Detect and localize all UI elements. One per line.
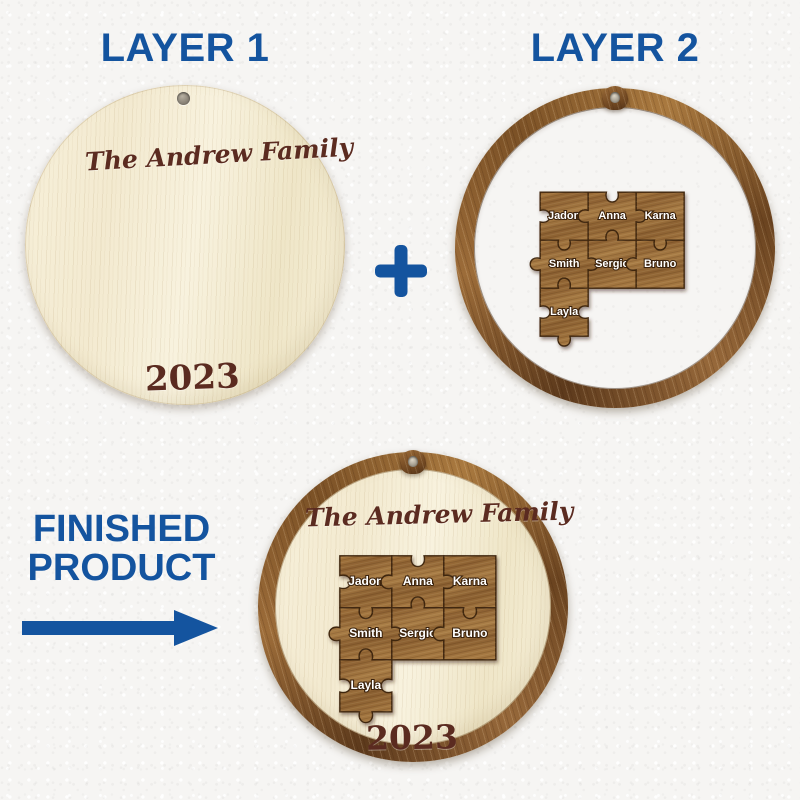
finished-label-line2: PRODUCT xyxy=(14,549,229,588)
puzzle-piece-label: Anna xyxy=(598,210,626,222)
plus-icon xyxy=(372,242,430,305)
hanging-hole-icon xyxy=(177,92,190,105)
puzzle-piece-label: Sergio xyxy=(399,626,436,640)
puzzle-piece-layla: Layla xyxy=(540,278,588,346)
arrow-right-icon xyxy=(22,608,222,653)
puzzle-piece-label: Karna xyxy=(453,574,487,588)
puzzle-piece-label: Anna xyxy=(403,574,433,588)
puzzle-piece-label: Layla xyxy=(550,306,579,318)
puzzle-piece-label: Bruno xyxy=(452,626,487,640)
puzzle-piece-label: Smith xyxy=(349,626,382,640)
finished-label-line1: FINISHED xyxy=(14,510,229,549)
layer2-heading: LAYER 2 xyxy=(430,26,800,71)
hanging-hole-icon xyxy=(610,92,620,103)
puzzle-piece-label: Jadon xyxy=(548,210,581,222)
puzzle-piece-label: Jadon xyxy=(348,574,383,588)
puzzle-piece-label: Smith xyxy=(549,258,580,270)
finished-year: 2023 xyxy=(366,717,459,758)
puzzle-piece-label: Karna xyxy=(645,210,677,222)
hanging-hole-icon xyxy=(408,456,418,467)
finished-puzzle-group: JadonAnnaKarnaSmithSergioBrunoLayla xyxy=(318,534,518,734)
layer1-year: 2023 xyxy=(144,356,240,399)
puzzle-piece-label: Bruno xyxy=(644,258,677,270)
finished-product-label: FINISHED PRODUCT xyxy=(14,510,229,588)
puzzle-piece-label: Layla xyxy=(351,678,382,692)
layer2-puzzle-group: JadonAnnaKarnaSmithSergioBrunoLayla xyxy=(520,172,704,356)
layer1-heading: LAYER 1 xyxy=(0,26,370,71)
puzzle-piece-label: Sergio xyxy=(595,258,629,270)
puzzle-piece-layla: Layla xyxy=(340,649,392,722)
layer1-wood-disc xyxy=(25,85,345,405)
